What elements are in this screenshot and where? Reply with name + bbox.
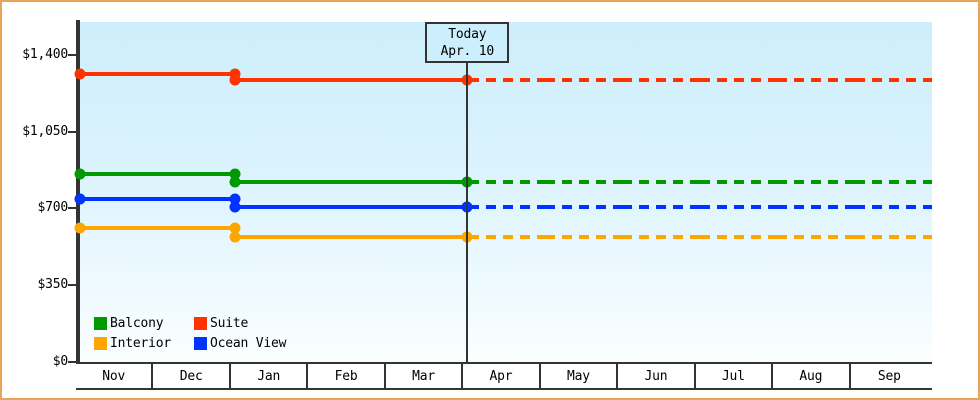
line-segment-ocean-view (157, 197, 236, 201)
y-axis-tick (68, 207, 77, 209)
line-segment-dashed-interior (700, 235, 777, 239)
line-segment-dashed-balcony (700, 180, 777, 184)
y-axis-tick (68, 131, 77, 133)
x-axis-month-feb[interactable]: Feb (308, 364, 385, 388)
line-segment-suite (235, 78, 314, 82)
legend-item-interior[interactable]: Interior (94, 333, 194, 353)
legend-label: Ocean View (210, 336, 286, 351)
data-point-ocean-view (75, 193, 86, 204)
line-segment-balcony (235, 180, 314, 184)
today-date: Apr. 10 (427, 43, 507, 60)
today-marker-box: Today Apr. 10 (425, 22, 509, 63)
x-axis-month-apr[interactable]: Apr (463, 364, 540, 388)
line-segment-interior (390, 235, 469, 239)
line-segment-balcony (312, 180, 391, 184)
legend-item-ocean-view[interactable]: Ocean View (194, 333, 286, 353)
line-segment-dashed-ocean-view (469, 205, 544, 209)
line-segment-dashed-ocean-view (545, 205, 622, 209)
y-axis-label: $350 (4, 277, 68, 292)
x-axis-month-nov[interactable]: Nov (76, 364, 153, 388)
y-axis-label-wrap: $0 (2, 354, 68, 370)
legend-swatch-icon (194, 337, 207, 350)
y-axis-label-wrap: $1,400 (2, 47, 68, 63)
x-axis-month-jan[interactable]: Jan (231, 364, 308, 388)
line-segment-interior (157, 226, 236, 230)
line-segment-interior (312, 235, 391, 239)
data-point-interior (75, 223, 86, 234)
line-segment-dashed-balcony (469, 180, 544, 184)
line-segment-suite (80, 72, 159, 76)
line-segment-dashed-suite (469, 78, 544, 82)
line-segment-dashed-suite (700, 78, 777, 82)
line-segment-suite (390, 78, 469, 82)
line-segment-dashed-ocean-view (777, 205, 854, 209)
line-segment-dashed-suite (777, 78, 854, 82)
legend-swatch-icon (94, 317, 107, 330)
y-axis-label: $700 (4, 200, 68, 215)
line-segment-suite (157, 72, 236, 76)
x-axis-month-sep[interactable]: Sep (851, 364, 928, 388)
line-segment-dashed-balcony (622, 180, 699, 184)
x-axis-months: NovDecJanFebMarAprMayJunJulAugSep (76, 362, 932, 390)
line-segment-ocean-view (312, 205, 391, 209)
legend-item-balcony[interactable]: Balcony (94, 313, 194, 333)
x-axis-month-jun[interactable]: Jun (618, 364, 695, 388)
line-segment-dashed-interior (622, 235, 699, 239)
legend-label: Interior (110, 336, 171, 351)
data-point-balcony (75, 169, 86, 180)
y-axis-label-wrap: $1,050 (2, 124, 68, 140)
y-axis-tick (68, 284, 77, 286)
x-axis-month-mar[interactable]: Mar (386, 364, 463, 388)
line-segment-dashed-suite (855, 78, 932, 82)
line-segment-dashed-ocean-view (622, 205, 699, 209)
data-point-interior (229, 231, 240, 242)
line-segment-dashed-suite (545, 78, 622, 82)
x-axis-month-aug[interactable]: Aug (773, 364, 850, 388)
line-segment-dashed-suite (622, 78, 699, 82)
y-axis-label: $1,400 (4, 47, 68, 62)
legend-swatch-icon (194, 317, 207, 330)
line-segment-dashed-interior (855, 235, 932, 239)
legend-label: Suite (210, 316, 248, 331)
x-axis-month-jul[interactable]: Jul (696, 364, 773, 388)
y-axis-label-wrap: $700 (2, 200, 68, 216)
line-segment-ocean-view (80, 197, 159, 201)
data-point-ocean-view (229, 202, 240, 213)
line-segment-balcony (390, 180, 469, 184)
data-point-suite (75, 68, 86, 79)
line-segment-interior (80, 226, 159, 230)
line-segment-dashed-ocean-view (700, 205, 777, 209)
line-segment-dashed-balcony (777, 180, 854, 184)
line-segment-dashed-balcony (545, 180, 622, 184)
y-axis-label-wrap: $350 (2, 277, 68, 293)
line-segment-suite (312, 78, 391, 82)
legend-label: Balcony (110, 316, 163, 331)
line-segment-dashed-balcony (855, 180, 932, 184)
line-segment-dashed-ocean-view (855, 205, 932, 209)
data-point-suite (229, 75, 240, 86)
data-point-balcony (229, 177, 240, 188)
chart-legend: BalconySuiteInteriorOcean View (94, 313, 286, 353)
legend-swatch-icon (94, 337, 107, 350)
y-axis-label: $1,050 (4, 124, 68, 139)
line-segment-balcony (157, 172, 236, 176)
line-segment-balcony (80, 172, 159, 176)
line-segment-ocean-view (390, 205, 469, 209)
line-segment-dashed-interior (545, 235, 622, 239)
legend-item-suite[interactable]: Suite (194, 313, 286, 333)
line-segment-interior (235, 235, 314, 239)
x-axis-month-dec[interactable]: Dec (153, 364, 230, 388)
y-axis-tick (68, 54, 77, 56)
y-axis-label: $0 (4, 354, 68, 369)
today-line (466, 62, 468, 362)
x-axis-month-may[interactable]: May (541, 364, 618, 388)
price-history-chart: $0$350$700$1,050$1,400 Today Apr. 10 Bal… (0, 0, 980, 400)
line-segment-dashed-interior (469, 235, 544, 239)
today-label: Today (427, 26, 507, 43)
line-segment-ocean-view (235, 205, 314, 209)
line-segment-dashed-interior (777, 235, 854, 239)
